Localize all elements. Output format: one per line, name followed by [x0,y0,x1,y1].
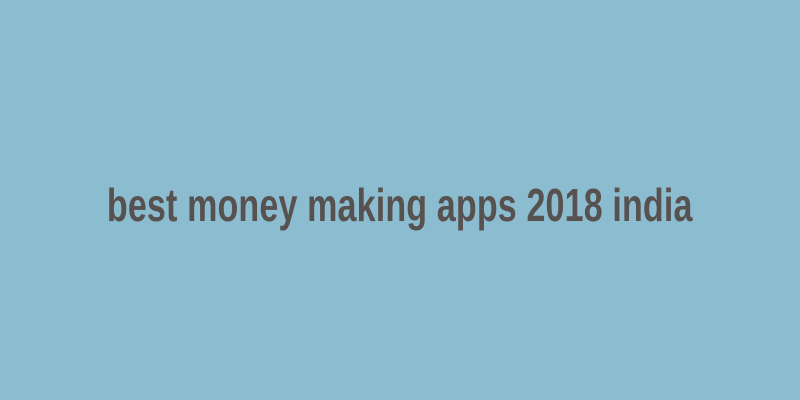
text-banner: best money making apps 2018 india [0,0,800,400]
banner-headline: best money making apps 2018 india [107,182,693,228]
